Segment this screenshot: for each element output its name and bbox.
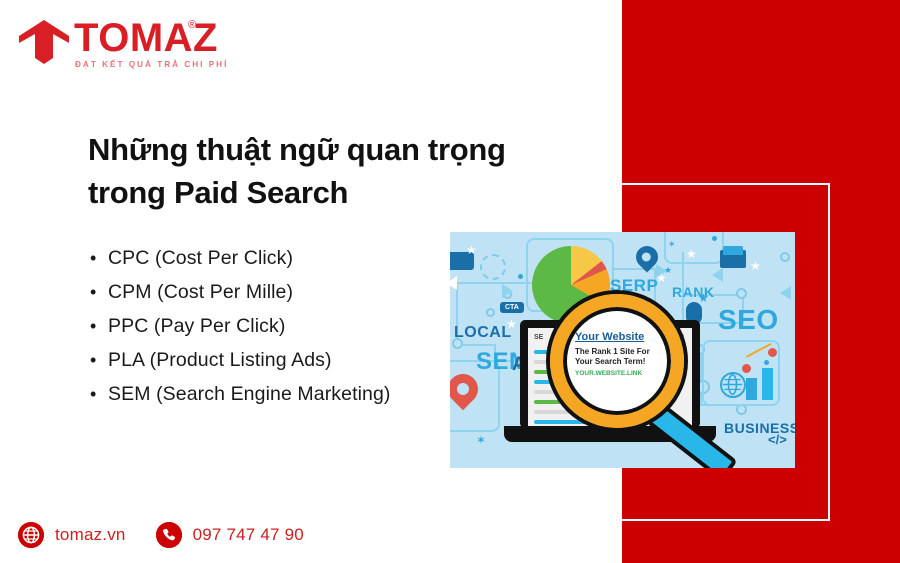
node-circle: [780, 252, 790, 262]
illustration-label-serp: SERP: [610, 276, 658, 296]
data-point: [768, 348, 777, 357]
cta-tag: CTA: [500, 302, 524, 313]
seo-illustration: SEARCH SERP RANK SEO LOCAL SEM BUSINESS …: [450, 232, 795, 468]
star-icon: ★: [506, 318, 517, 330]
arrow-icon: [450, 276, 457, 290]
upward-chevron-arrow-icon: [18, 18, 70, 66]
dashed-circle: [480, 254, 506, 280]
arrow-icon: [780, 286, 791, 300]
code-icon: </>: [768, 432, 787, 447]
star-icon: ★: [698, 292, 709, 304]
page-title: Những thuật ngữ quan trọng trong Paid Se…: [88, 128, 588, 214]
screen-label: SE: [534, 334, 543, 341]
star-icon: ★: [686, 248, 697, 260]
bar: [746, 378, 757, 400]
magnifier-ring: [550, 294, 684, 428]
footer-contact-bar: tomaz.vn 097 747 47 90: [18, 518, 304, 552]
bullet-marker: •: [90, 385, 108, 403]
star-icon: ✶: [668, 240, 676, 249]
globe-icon: [18, 522, 44, 548]
list-item-label: SEM (Search Engine Marketing): [108, 383, 391, 406]
poster-canvas: TOMAZ ® ĐẠT KẾT QUẢ TRẢ CHI PHÍ Những th…: [0, 0, 900, 563]
brand-logo[interactable]: TOMAZ ® ĐẠT KẾT QUẢ TRẢ CHI PHÍ: [18, 16, 248, 74]
list-item-label: PPC (Pay Per Click): [108, 315, 285, 338]
bullet-marker: •: [90, 283, 108, 301]
list-item-label: CPC (Cost Per Click): [108, 247, 293, 270]
bullet-marker: •: [90, 351, 108, 369]
illustration-label-seo: SEO: [718, 304, 779, 336]
list-item-label: PLA (Product Listing Ads): [108, 349, 332, 372]
arrow-icon: [502, 284, 513, 298]
arrow-icon: [712, 268, 723, 282]
website-label[interactable]: tomaz.vn: [55, 525, 126, 545]
phone-label[interactable]: 097 747 47 90: [193, 525, 304, 545]
bullet-marker: •: [90, 317, 108, 335]
dot: [518, 274, 523, 279]
registered-mark: ®: [188, 19, 196, 31]
node-circle: [736, 288, 747, 299]
logo-tagline: ĐẠT KẾT QUẢ TRẢ CHI PHÍ: [75, 60, 228, 69]
data-point: [742, 364, 751, 373]
node-circle: [486, 308, 495, 317]
bullet-marker: •: [90, 249, 108, 267]
star-icon: ★: [750, 260, 761, 272]
mail-icon: [720, 250, 746, 268]
star-icon: ★: [664, 266, 672, 275]
star-icon: ✶: [476, 434, 486, 446]
bar: [762, 368, 773, 400]
phone-icon: [156, 522, 182, 548]
connector-line: [450, 282, 536, 284]
magnifier-illustration: Your Website The Rank 1 Site For Your Se…: [550, 294, 684, 428]
star-icon: ★: [466, 244, 477, 256]
illustration-label-local: LOCAL: [454, 324, 512, 342]
globe-icon: [720, 372, 746, 398]
logo-wordmark: TOMAZ: [74, 16, 218, 60]
list-item-label: CPM (Cost Per Mille): [108, 281, 293, 304]
